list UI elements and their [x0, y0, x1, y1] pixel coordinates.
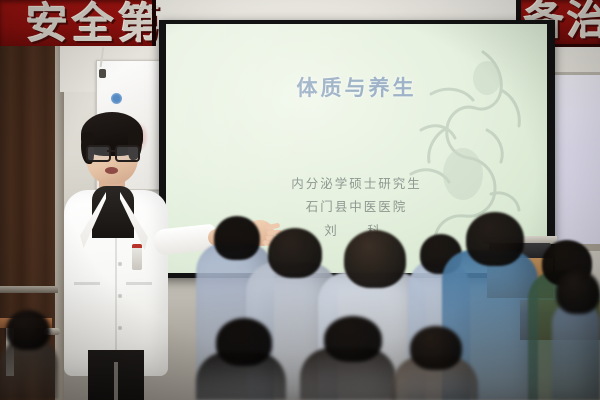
presenter-glasses-icon — [86, 145, 138, 159]
audience-5-head — [466, 212, 524, 266]
audience-9-head — [410, 326, 462, 370]
glasses-lens-left — [86, 145, 111, 162]
slide-subtitle-line-1: 内分泌学硕士研究生 — [166, 173, 547, 192]
presenter — [58, 112, 178, 400]
presenter-coat-button — [118, 326, 122, 330]
audience-10 — [0, 336, 58, 400]
audience-8 — [300, 348, 396, 400]
audience-9 — [392, 356, 478, 400]
audience-8-head — [324, 316, 382, 362]
glasses-bridge — [107, 150, 115, 152]
presenter-coat-button — [118, 294, 122, 298]
audience-7 — [196, 352, 286, 400]
presenter-mouth — [105, 167, 118, 174]
audience-1-head — [214, 216, 260, 260]
presenter-trouser-gap — [114, 362, 118, 400]
whiteboard-right — [552, 72, 600, 251]
slide-title: 体质与养生 — [166, 72, 547, 102]
audience-11 — [552, 300, 600, 400]
presenter-pocket-right — [126, 282, 152, 285]
whiteboard-clip — [99, 69, 106, 78]
glasses-lens-right — [115, 145, 140, 162]
whiteboard-logo-icon — [111, 93, 122, 104]
audience-10-head — [6, 310, 50, 350]
presenter-id-badge — [132, 244, 142, 270]
audience-11-head — [556, 270, 600, 314]
audience-7-head — [216, 318, 272, 366]
wall-banner-left-text: 安全第 — [0, 0, 156, 45]
presenter-coat-button — [118, 262, 122, 266]
audience-3-head — [344, 230, 406, 288]
door-band — [0, 286, 58, 293]
presenter-pocket-left — [74, 282, 100, 285]
wall-banner-left: 安全第 — [0, 0, 156, 51]
lecture-photo-scene: 安全第 备治 — [0, 0, 600, 400]
audience-2-head — [268, 228, 322, 278]
audience-11-body — [552, 300, 600, 400]
